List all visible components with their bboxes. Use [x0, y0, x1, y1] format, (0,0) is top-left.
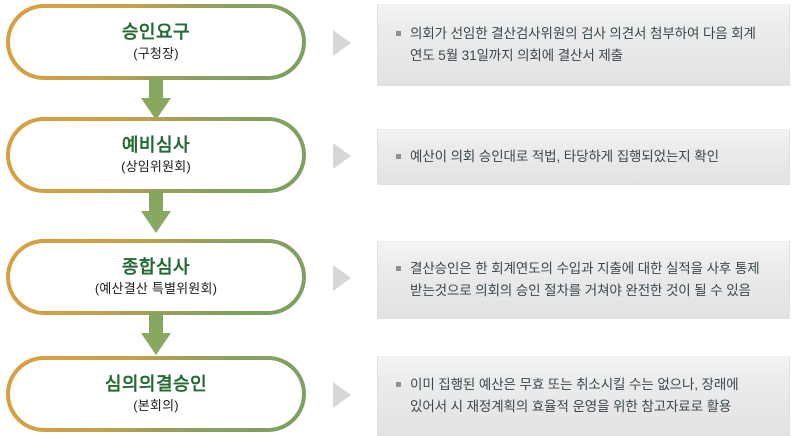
description-text: 의회가 선임한 결산검사위원의 검사 의견서 첨부하여 다음 회계 연도 5월 … [410, 23, 775, 67]
square-bullet-icon [396, 154, 401, 159]
triangle-right-icon [333, 265, 351, 291]
square-bullet-icon [396, 382, 401, 387]
stage-subtitle: (본회의) [133, 398, 179, 414]
flow-step-row: 승인요구 (구청장) 의회가 선임한 결산검사위원의 검사 의견서 첨부하여 다… [0, 4, 798, 82]
arrow-down-icon-3 [141, 313, 171, 355]
square-bullet-icon [396, 31, 401, 36]
description-text: 예산이 의회 승인대로 적법, 타당하게 집행되었는지 확인 [410, 146, 719, 168]
stage-title: 심의의결승인 [105, 374, 207, 396]
description-panel-1: 의회가 선임한 결산검사위원의 검사 의견서 첨부하여 다음 회계 연도 5월 … [377, 4, 790, 86]
stage-title: 예비심사 [122, 135, 190, 157]
square-bullet-icon [396, 266, 401, 271]
stage-subtitle: (구청장) [133, 46, 179, 62]
stage-subtitle: (상임위원회) [121, 159, 191, 175]
triangle-right-icon [333, 143, 351, 169]
stage-title: 승인요구 [122, 22, 190, 44]
stage-subtitle: (예산결산 특별위원회) [95, 281, 217, 297]
description-text: 이미 집행된 예산은 무효 또는 취소시킬 수는 없으나, 장래에 있어서 시 … [410, 374, 775, 418]
triangle-right-icon [333, 30, 351, 56]
description-panel-3: 결산승인은 한 회계연도의 수입과 지출에 대한 실적을 사후 통제 받는것으로… [377, 241, 790, 319]
description-panel-4: 이미 집행된 예산은 무효 또는 취소시킬 수는 없으나, 장래에 있어서 시 … [377, 356, 790, 436]
description-panel-2: 예산이 의회 승인대로 적법, 타당하게 집행되었는지 확인 [377, 129, 790, 185]
stage-box-3[interactable]: 종합심사 (예산결산 특별위원회) [6, 239, 306, 315]
arrow-down-icon-2 [141, 191, 171, 233]
stage-title: 종합심사 [122, 257, 190, 279]
flowchart-container: 승인요구 (구청장) 의회가 선임한 결산검사위원의 검사 의견서 첨부하여 다… [0, 0, 798, 436]
stage-box-4[interactable]: 심의의결승인 (본회의) [6, 356, 306, 432]
arrow-down-icon-1 [141, 78, 171, 120]
description-text: 결산승인은 한 회계연도의 수입과 지출에 대한 실적을 사후 통제 받는것으로… [410, 258, 775, 302]
stage-box-2[interactable]: 예비심사 (상임위원회) [6, 117, 306, 193]
triangle-right-icon [333, 382, 351, 408]
flow-step-row: 심의의결승인 (본회의) 이미 집행된 예산은 무효 또는 취소시킬 수는 없으… [0, 356, 798, 434]
flow-step-row: 종합심사 (예산결산 특별위원회) 결산승인은 한 회계연도의 수입과 지출에 … [0, 239, 798, 317]
flow-step-row: 예비심사 (상임위원회) 예산이 의회 승인대로 적법, 타당하게 집행되었는지… [0, 117, 798, 195]
stage-box-1[interactable]: 승인요구 (구청장) [6, 4, 306, 80]
